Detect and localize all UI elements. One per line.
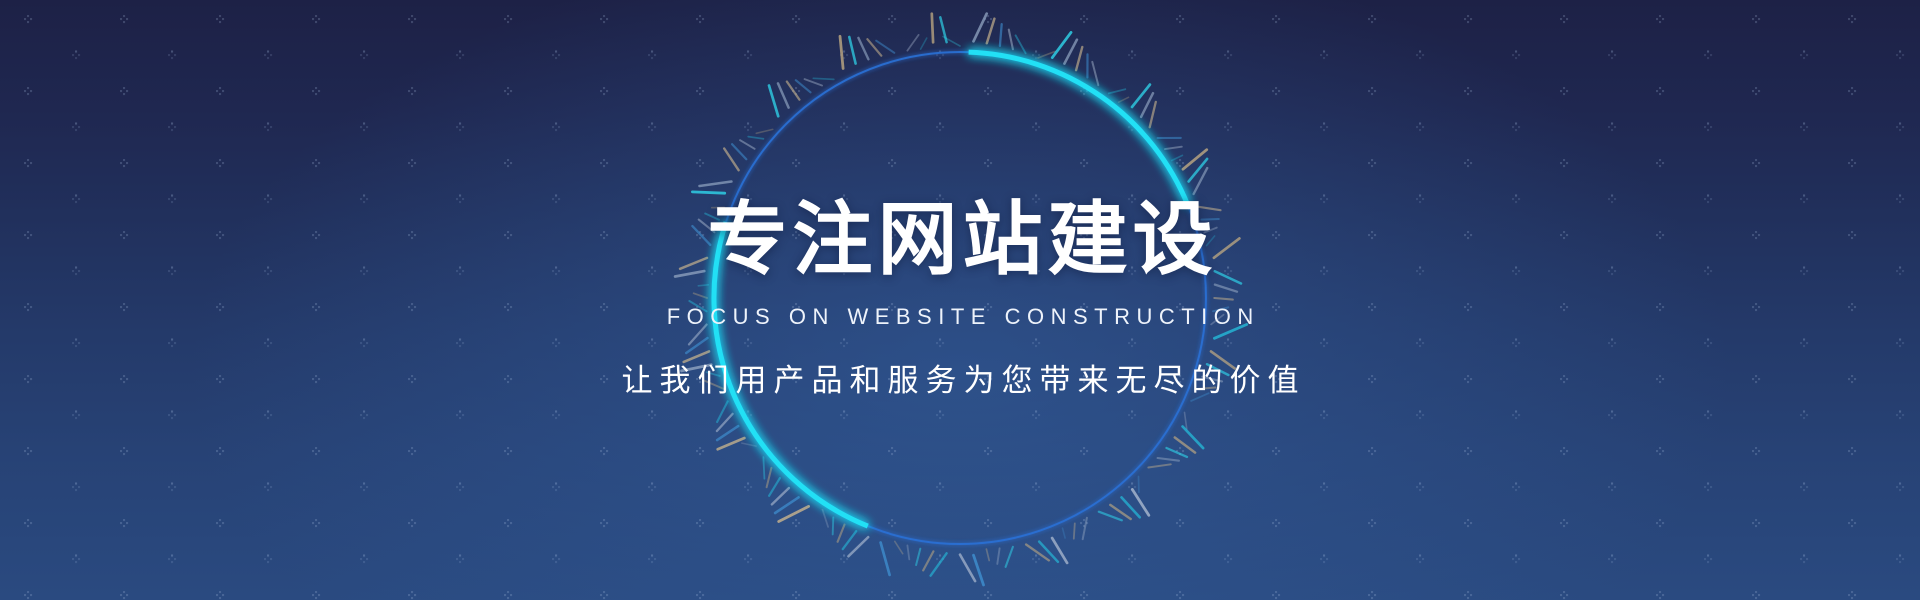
page-title: 专注网站建设 bbox=[708, 200, 1218, 280]
hero-banner: 专注网站建设 FOCUS ON WEBSITE CONSTRUCTION 让我们… bbox=[0, 0, 1920, 600]
banner-content: 专注网站建设 FOCUS ON WEBSITE CONSTRUCTION 让我们… bbox=[0, 0, 1920, 600]
page-tagline: 让我们用产品和服务为您带来无尽的价值 bbox=[622, 355, 1306, 400]
page-subtitle-en: FOCUS ON WEBSITE CONSTRUCTION bbox=[667, 304, 1260, 330]
